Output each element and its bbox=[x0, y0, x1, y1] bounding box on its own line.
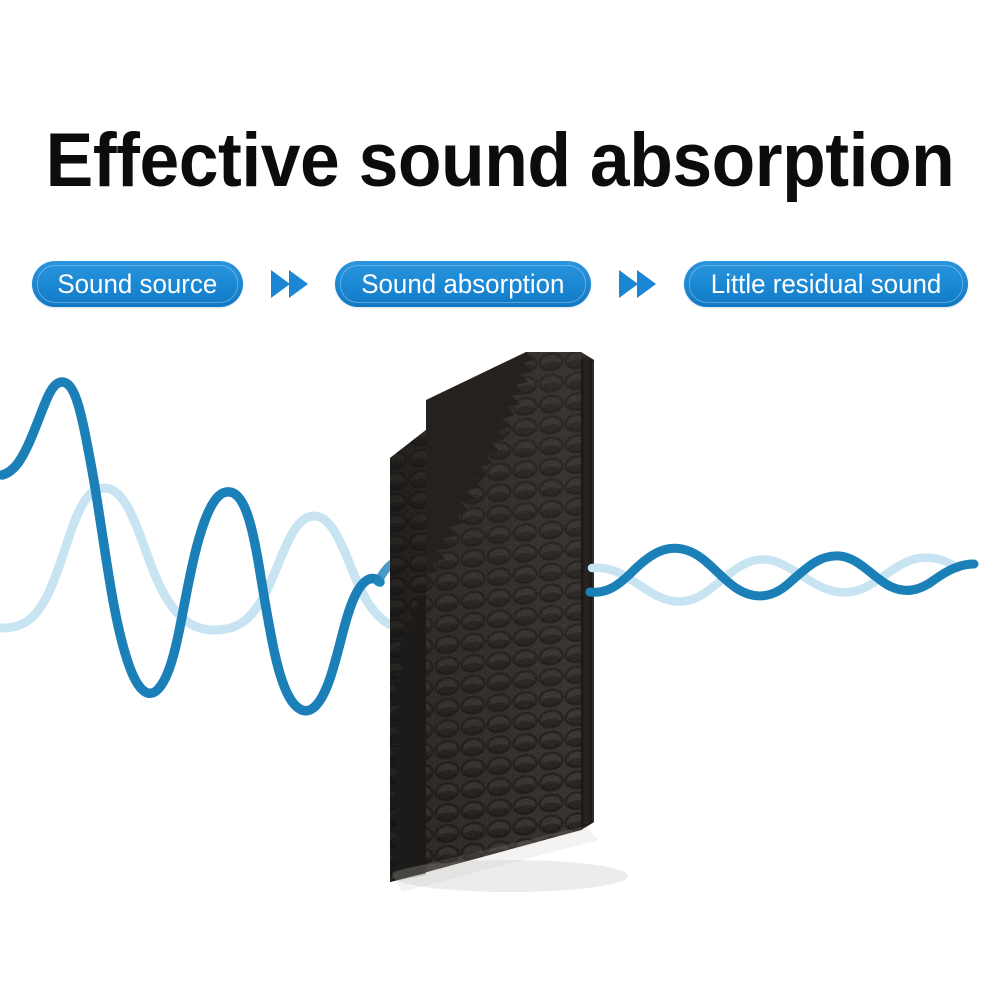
badge-sound-source-label: Sound source bbox=[57, 269, 217, 299]
page-title: Effective sound absorption bbox=[30, 118, 970, 204]
chevron-right-icon bbox=[271, 270, 290, 298]
badge-little-residual-sound[interactable]: Little residual sound bbox=[684, 261, 968, 307]
acoustic-foam-absorption-diagram bbox=[0, 320, 1000, 940]
badge-sound-source[interactable]: Sound source bbox=[32, 261, 243, 307]
chevron-right-icon bbox=[637, 270, 656, 298]
chevron-right-icon bbox=[619, 270, 638, 298]
incoming-sound-wave bbox=[2, 382, 380, 711]
incoming-sound-wave-secondary bbox=[2, 488, 452, 630]
process-flow: Sound source Sound absorption Little res… bbox=[32, 258, 968, 310]
badge-little-residual-sound-label: Little residual sound bbox=[711, 269, 942, 299]
double-chevron-right-icon-2 bbox=[610, 270, 665, 298]
panel-left-shadow bbox=[390, 430, 426, 882]
product-infographic: Effective sound absorption Sound source … bbox=[0, 0, 1000, 1000]
badge-sound-absorption[interactable]: Sound absorption bbox=[335, 261, 591, 307]
chevron-right-icon bbox=[289, 270, 308, 298]
double-chevron-right-icon-1 bbox=[262, 270, 317, 298]
badge-sound-absorption-label: Sound absorption bbox=[362, 269, 565, 299]
residual-waves bbox=[590, 548, 974, 601]
incoming-waves bbox=[2, 382, 454, 711]
